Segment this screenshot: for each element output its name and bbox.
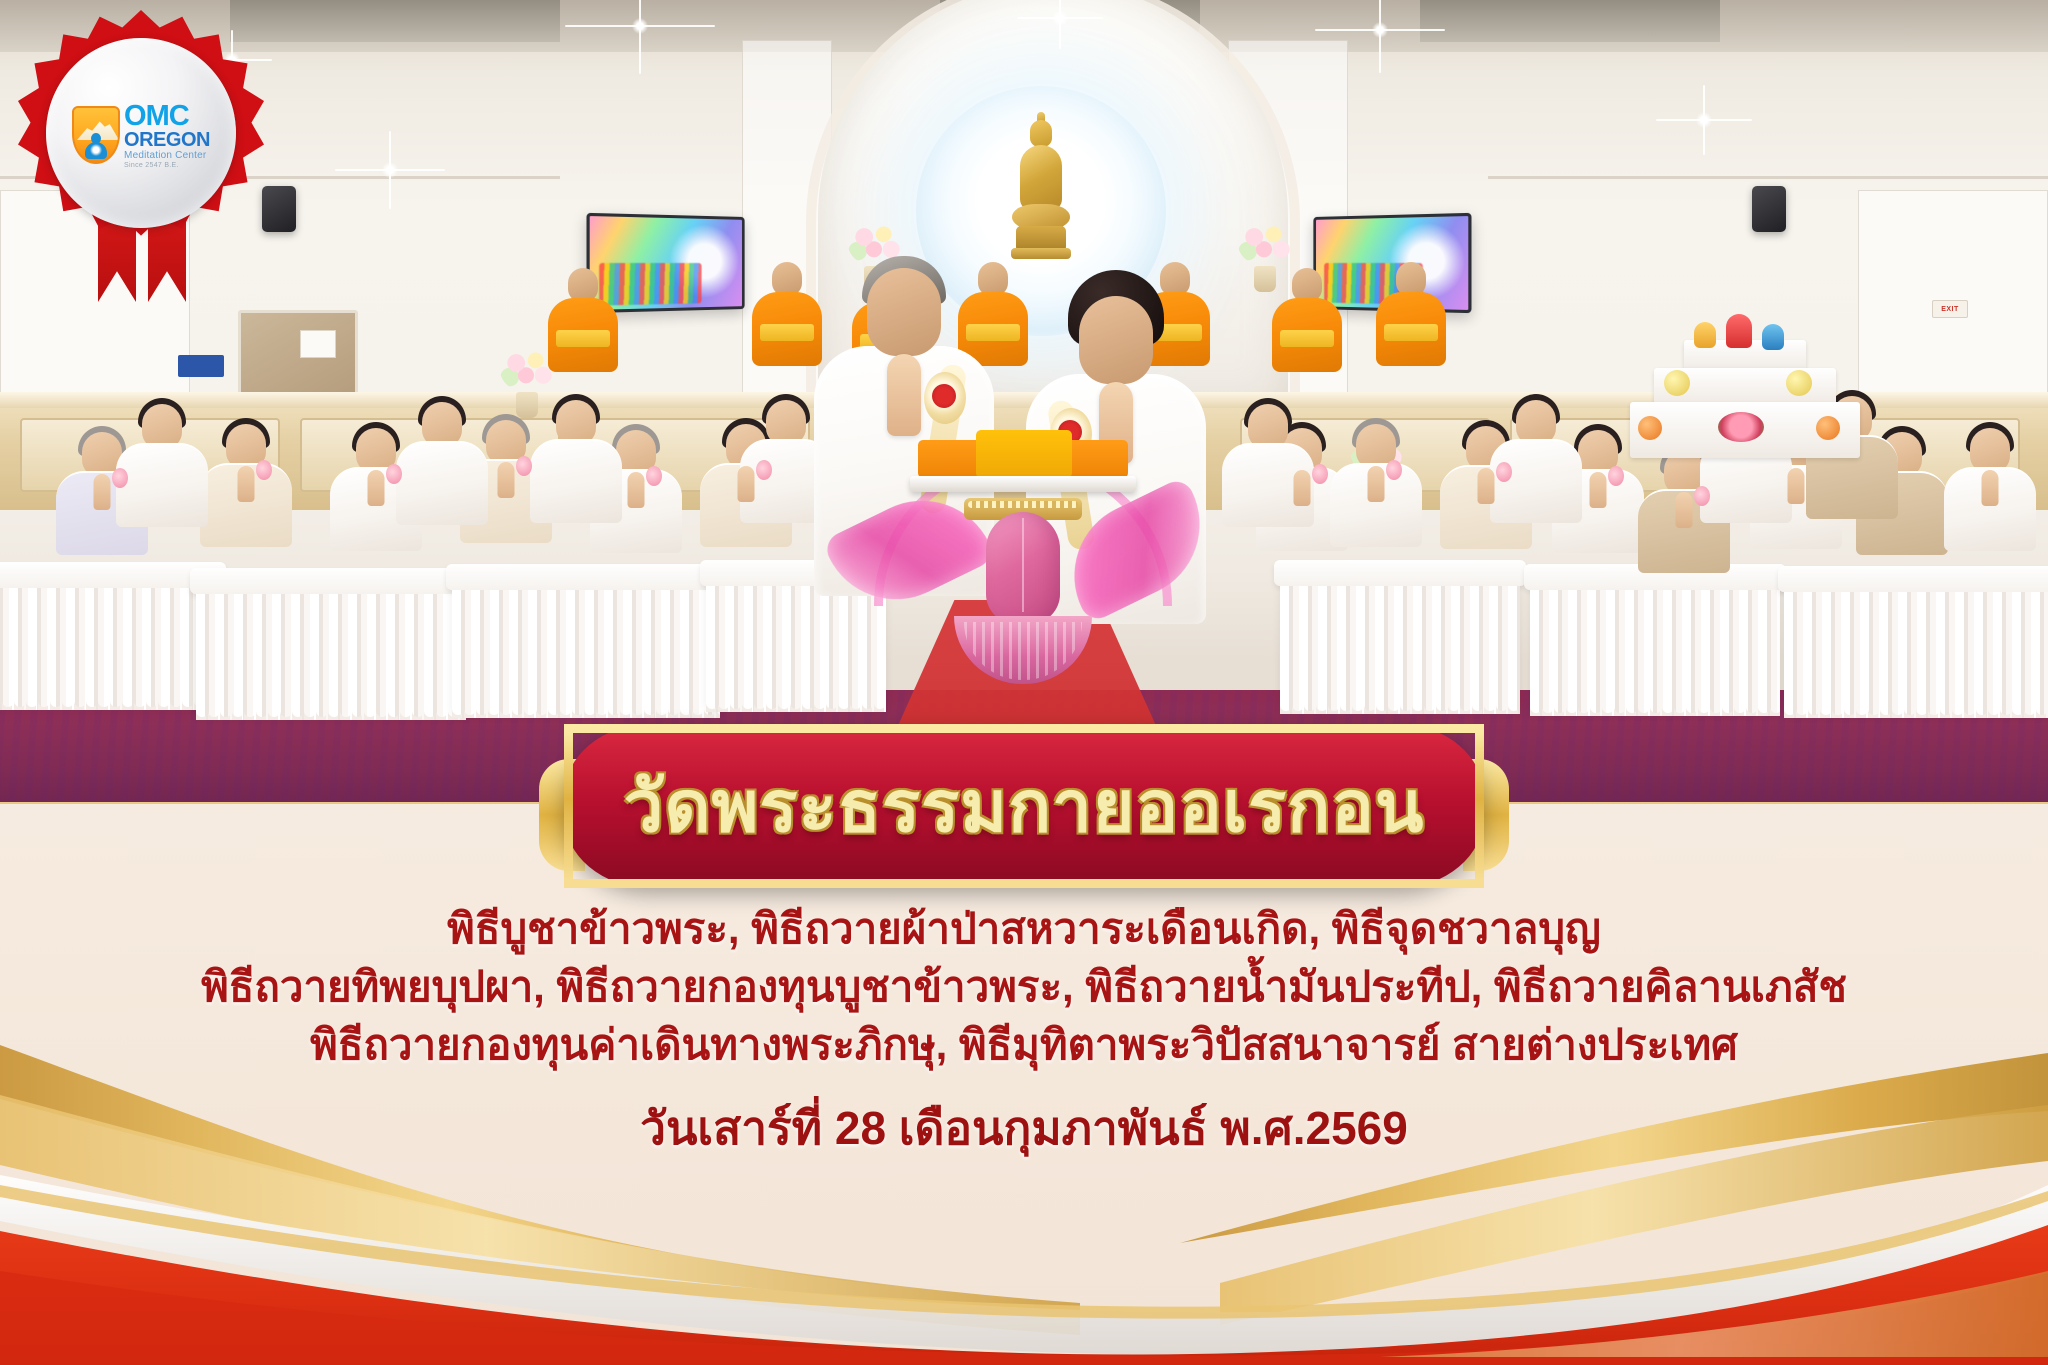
monk xyxy=(1376,262,1446,366)
offering-fruit xyxy=(1664,370,1690,396)
skirted-table xyxy=(1280,572,1520,714)
skirted-table xyxy=(1530,576,1780,716)
offering-altar xyxy=(1630,318,1860,458)
seated-devotee xyxy=(530,400,622,523)
flower-corsage xyxy=(756,460,772,480)
wai-hands xyxy=(1590,472,1607,508)
offering-tray xyxy=(910,476,1136,492)
monk xyxy=(548,268,618,372)
monk-head xyxy=(568,268,598,302)
skirted-table xyxy=(452,576,720,718)
buddha-head xyxy=(1030,120,1052,147)
ceremony-line-3: พิธีถวายกองทุนค่าเดินทางพระภิกษุ, พิธีมุ… xyxy=(0,1016,2048,1074)
wai-hands xyxy=(738,466,755,502)
table-skirt xyxy=(706,586,886,712)
wai-hands xyxy=(1982,470,1999,506)
wai-hands xyxy=(368,470,385,506)
seated-devotee xyxy=(116,404,208,527)
wai-hands xyxy=(94,474,111,510)
omc-logo-badge[interactable]: OMC OREGON Meditation Center Since 2547 … xyxy=(12,6,270,306)
man-head xyxy=(867,268,941,356)
seated-devotee xyxy=(200,424,292,547)
flower-arrangement xyxy=(500,348,554,392)
flower-corsage xyxy=(256,460,272,480)
ceremony-line-1: พิธีบูชาข้าวพระ, พิธีถวายผ้าป่าสหวาระเดื… xyxy=(0,900,2048,958)
ceiling-beam xyxy=(230,0,560,42)
golden-buddha-statue xyxy=(1010,120,1072,272)
flower-vase xyxy=(1238,222,1292,292)
ceremony-photograph: EXIT xyxy=(0,0,2048,804)
logo-lockup: OMC OREGON Meditation Center Since 2547 … xyxy=(72,102,210,169)
buddha-torso xyxy=(1020,145,1062,211)
wai-hands xyxy=(628,472,645,508)
wai-hands xyxy=(1676,492,1693,528)
table-top xyxy=(446,564,726,590)
lotus-offering-stand xyxy=(868,470,1178,720)
table-skirt xyxy=(196,594,466,720)
table-skirt xyxy=(1280,586,1520,714)
flower-corsage xyxy=(516,456,532,476)
table-skirt xyxy=(0,588,220,710)
blue-wall-sign xyxy=(178,355,224,377)
logo-abbr: OMC xyxy=(124,102,210,131)
wai-hands xyxy=(238,466,255,502)
skirted-table xyxy=(0,574,220,710)
buddha-pedestal-foot xyxy=(1011,248,1071,259)
devotee-robe xyxy=(396,441,488,525)
flower-corsage xyxy=(1496,462,1512,482)
flower-corsage xyxy=(1386,460,1402,480)
flower-corsage xyxy=(1694,486,1710,506)
flower-corsage xyxy=(646,466,662,486)
table-skirt xyxy=(1784,592,2048,718)
monk-head xyxy=(1396,262,1426,296)
meditator-glow xyxy=(90,144,102,156)
monk xyxy=(752,262,822,366)
wai-hands xyxy=(498,462,515,498)
wai-hands xyxy=(887,354,921,436)
wall-moulding xyxy=(1488,176,2048,179)
offering-fruit xyxy=(1786,370,1812,396)
flower-corsage xyxy=(1312,464,1328,484)
monk-sash xyxy=(1384,324,1438,341)
table-top xyxy=(1274,560,1526,586)
ceremony-date: วันเสาร์ที่ 28 เดือนกุมภาพันธ์ พ.ศ.2569 xyxy=(0,1092,2048,1165)
offering-orange xyxy=(1638,416,1662,440)
monk-sash xyxy=(1280,330,1334,347)
robe-bundle-band xyxy=(976,430,1072,478)
offering-vessel xyxy=(1726,314,1752,348)
door-notice-sign xyxy=(300,330,336,358)
flower-arrangement xyxy=(1238,222,1292,266)
flower-corsage xyxy=(112,468,128,488)
logo-text-block: OMC OREGON Meditation Center Since 2547 … xyxy=(124,102,210,169)
devotee-robe xyxy=(530,439,622,523)
skirted-table xyxy=(1784,578,2048,718)
wai-hands xyxy=(1368,466,1385,502)
lotus-base-petals xyxy=(954,616,1092,684)
ceremony-poster: EXIT xyxy=(0,0,2048,1365)
badge-disc: OMC OREGON Meditation Center Since 2547 … xyxy=(46,38,236,228)
ceiling-beam xyxy=(1420,0,1720,42)
table-top xyxy=(190,568,472,594)
offering-vessel xyxy=(1762,324,1784,350)
lotus-bud xyxy=(986,512,1060,624)
seated-devotee xyxy=(1330,424,1422,547)
exit-sign: EXIT xyxy=(1932,300,1968,318)
wai-hands xyxy=(1478,468,1495,504)
logo-since: Since 2547 B.E. xyxy=(124,162,210,169)
skirted-table xyxy=(196,580,466,720)
ceremonial-rosette xyxy=(924,372,966,424)
temple-name: วัดพระธรรมกายออเรกอน xyxy=(624,750,1425,863)
ceremony-line-2: พิธีถวายทิพยบุปผา, พิธีถวายกองทุนบูชาข้า… xyxy=(0,958,2048,1016)
offering-orange xyxy=(1816,416,1840,440)
monk-sash xyxy=(760,324,814,341)
table-top xyxy=(1778,566,2048,592)
title-plaque-wrapper: วัดพระธรรมกายออเรกอน xyxy=(564,724,1484,888)
flower-corsage xyxy=(386,464,402,484)
offering-vessel xyxy=(1694,322,1716,348)
monk-head xyxy=(1292,268,1322,302)
wai-hands xyxy=(1294,470,1311,506)
seated-devotee xyxy=(1944,428,2036,551)
woman-head xyxy=(1079,296,1153,384)
vase-pot xyxy=(1254,266,1276,292)
wai-hands xyxy=(1788,468,1805,504)
seated-devotee xyxy=(396,402,488,525)
carved-watermelon xyxy=(1718,412,1764,442)
monk-sash xyxy=(556,330,610,347)
meditator-figure-icon xyxy=(82,133,110,159)
monk-head xyxy=(772,262,802,296)
mountain-meditator-shield-icon xyxy=(72,106,120,164)
title-plaque: วัดพระธรรมกายออเรกอน xyxy=(564,724,1484,888)
ceiling-speaker xyxy=(1752,186,1786,232)
table-skirt xyxy=(452,590,720,718)
ceremony-details: พิธีบูชาข้าวพระ, พิธีถวายผ้าป่าสหวาระเดื… xyxy=(0,900,2048,1165)
flower-corsage xyxy=(1608,466,1624,486)
logo-subtitle: Meditation Center xyxy=(124,151,210,161)
devotee-robe xyxy=(116,443,208,527)
table-skirt xyxy=(1530,590,1780,716)
logo-region: OREGON xyxy=(124,130,210,150)
